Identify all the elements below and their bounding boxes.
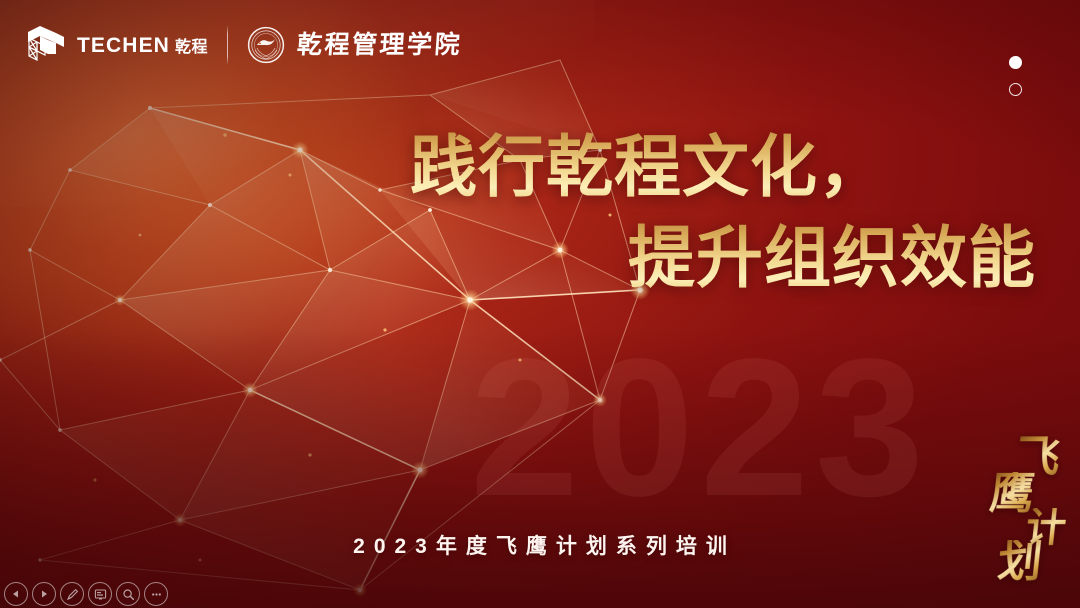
techen-wordmark: TECHEN 乾程: [77, 35, 208, 56]
pen-icon: [66, 588, 79, 601]
slide-subtitle: 2023年度飞鹰计划系列培训: [0, 530, 1080, 560]
slideshow-icon: [94, 588, 107, 601]
zoom-search-button[interactable]: [116, 582, 140, 606]
more-options-button[interactable]: [144, 582, 168, 606]
academy-name: 乾程管理学院: [296, 33, 463, 58]
hollow-dot-icon: [1009, 83, 1022, 96]
decorative-dots: [1009, 56, 1022, 96]
previous-slide-button[interactable]: [4, 582, 28, 606]
logo-divider: [227, 25, 228, 65]
title-line-2: 提升组织效能: [336, 213, 1036, 304]
techen-crane-logo-icon: [26, 24, 66, 66]
stamp-char-3: 划: [996, 540, 1045, 584]
slide-title: 践行乾程文化， 提升组织效能: [336, 122, 1036, 304]
presentation-view-button[interactable]: [88, 582, 112, 606]
filled-dot-icon: [1009, 56, 1022, 69]
next-slide-button[interactable]: [32, 582, 56, 606]
triangle-right-icon: [39, 589, 49, 599]
brand-chinese-name: 乾程: [175, 40, 208, 56]
presentation-slide: 2023 TECHEN 乾程: [0, 0, 1080, 608]
ellipsis-icon: [150, 588, 163, 601]
title-line-1: 践行乾程文化，: [336, 122, 886, 213]
brand-latin-name: TECHEN: [77, 35, 170, 56]
academy-seal-icon: [247, 26, 285, 64]
background-bottom-shade: [0, 328, 1080, 608]
pen-annotate-button[interactable]: [60, 582, 84, 606]
magnifier-icon: [122, 588, 135, 601]
header-logo-group: TECHEN 乾程 乾程管理学院: [26, 22, 462, 68]
slide-viewer-toolbar[interactable]: [4, 582, 168, 606]
triangle-left-icon: [11, 589, 21, 599]
feiying-plan-stamp: 飞 鹰 计 划: [958, 436, 1074, 586]
